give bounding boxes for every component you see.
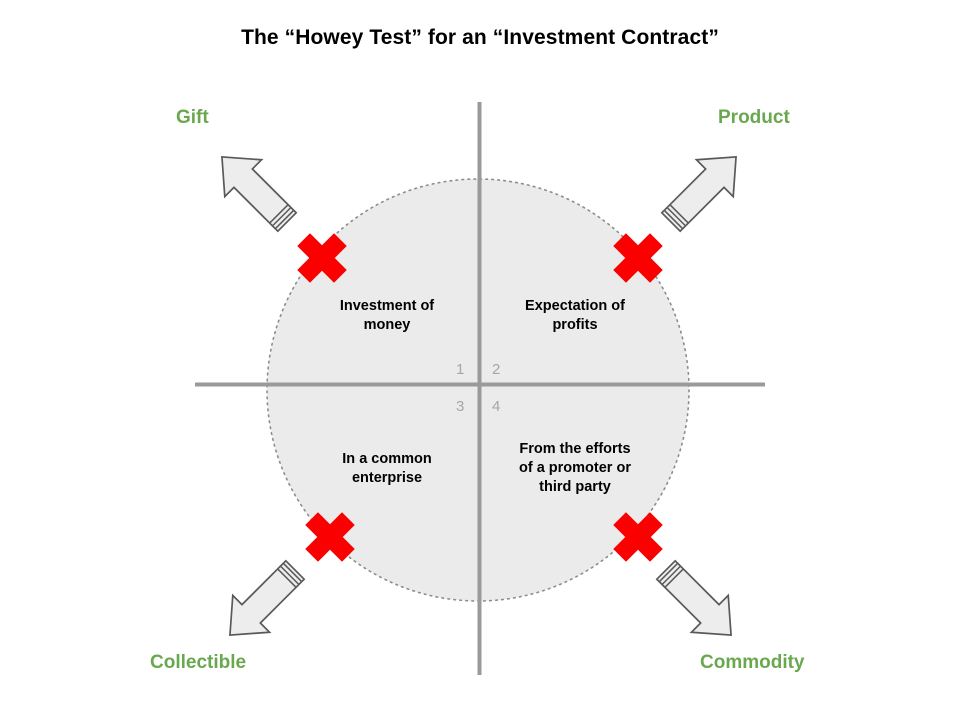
quadrant-number-4: 4 (492, 398, 500, 415)
diagram-canvas: The “Howey Test” for an “Investment Cont… (0, 0, 960, 720)
arrow-bottom-left (212, 552, 314, 654)
corner-label-gift: Gift (176, 107, 209, 129)
quadrant-3-text: In a common enterprise (297, 450, 477, 488)
quadrant-number-2: 2 (492, 361, 500, 378)
arrow-top-left (204, 139, 306, 241)
arrow-top-right (653, 139, 755, 241)
quadrant-number-1: 1 (456, 361, 464, 378)
quadrant-4-text: From the efforts of a promoter or third … (485, 440, 665, 497)
quadrant-1-text: Investment of money (297, 297, 477, 335)
corner-label-collectible: Collectible (150, 652, 246, 674)
corner-label-commodity: Commodity (700, 652, 805, 674)
corner-label-product: Product (718, 107, 790, 129)
arrow-bottom-right (648, 552, 750, 654)
quadrant-number-3: 3 (456, 398, 464, 415)
diagram-graphics (0, 0, 960, 720)
quadrant-2-text: Expectation of profits (485, 297, 665, 335)
